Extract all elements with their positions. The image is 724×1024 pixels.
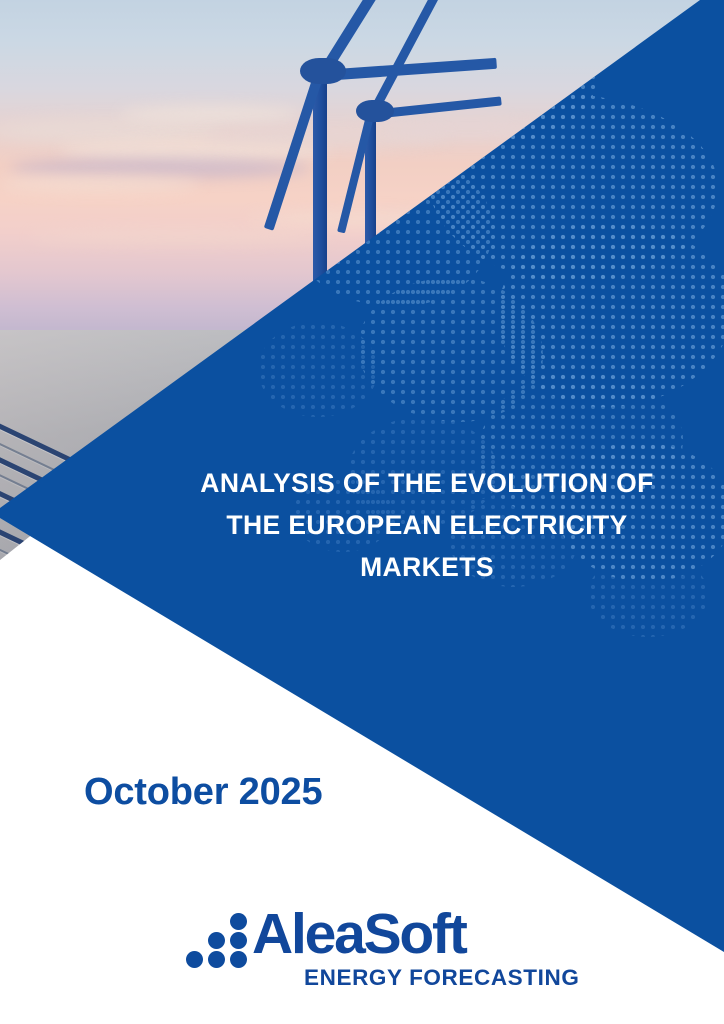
aleasoft-tagline: ENERGY FORECASTING <box>304 965 579 991</box>
aleasoft-wordmark: AleaSoft <box>252 899 466 969</box>
turbine-hub <box>300 58 346 84</box>
cover-title-line-2: THE EUROPEAN ELECTRICITY <box>142 504 712 546</box>
logo-dot <box>230 932 247 949</box>
cloud <box>0 176 200 192</box>
logo-dot <box>208 951 225 968</box>
turbine-hub <box>356 100 394 122</box>
cover-title-line-1: ANALYSIS OF THE EVOLUTION OF <box>142 462 712 504</box>
cover-title-line-3: MARKETS <box>142 546 712 588</box>
logo-dot <box>230 951 247 968</box>
cover-date: October 2025 <box>84 771 322 814</box>
logo-dot <box>186 951 203 968</box>
cloud <box>30 230 330 244</box>
logo-dot <box>208 932 225 949</box>
cloud <box>10 158 310 178</box>
logo-dot <box>230 913 247 930</box>
cover-title: ANALYSIS OF THE EVOLUTION OF THE EUROPEA… <box>142 462 712 588</box>
cloud <box>120 106 300 122</box>
aleasoft-logo: AleaSoft ENERGY FORECASTING <box>186 905 546 995</box>
cover-page: ANALYSIS OF THE EVOLUTION OF THE EUROPEA… <box>0 0 724 1024</box>
